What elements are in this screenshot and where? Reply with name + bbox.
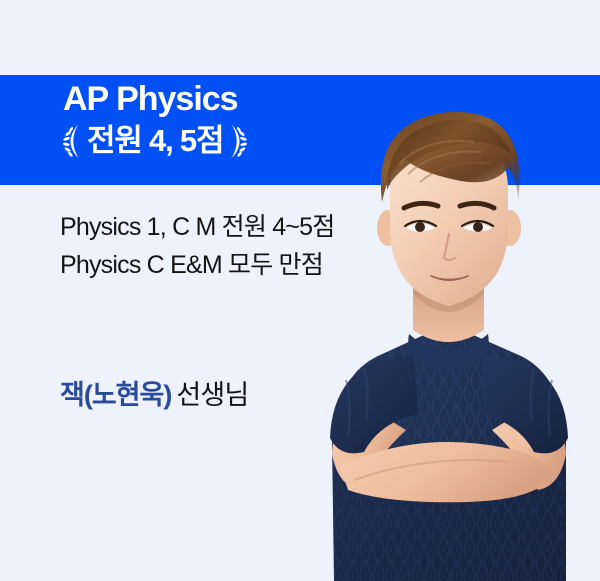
teacher-title-suffix: 선생님	[176, 380, 248, 410]
promo-card: AP Physics 전원 4, 5점	[0, 0, 600, 581]
banner-background	[0, 75, 600, 185]
teacher-name: 잭(노현욱)	[60, 380, 171, 410]
teacher-credit: 잭(노현욱)선생님	[60, 373, 248, 412]
achievement-details: Physics 1, C M 전원 4~5점 Physics C E&M 모두 …	[60, 208, 334, 284]
achievement-line: Physics 1, C M 전원 4~5점	[60, 208, 334, 246]
achievement-line: Physics C E&M 모두 만점	[60, 246, 334, 284]
